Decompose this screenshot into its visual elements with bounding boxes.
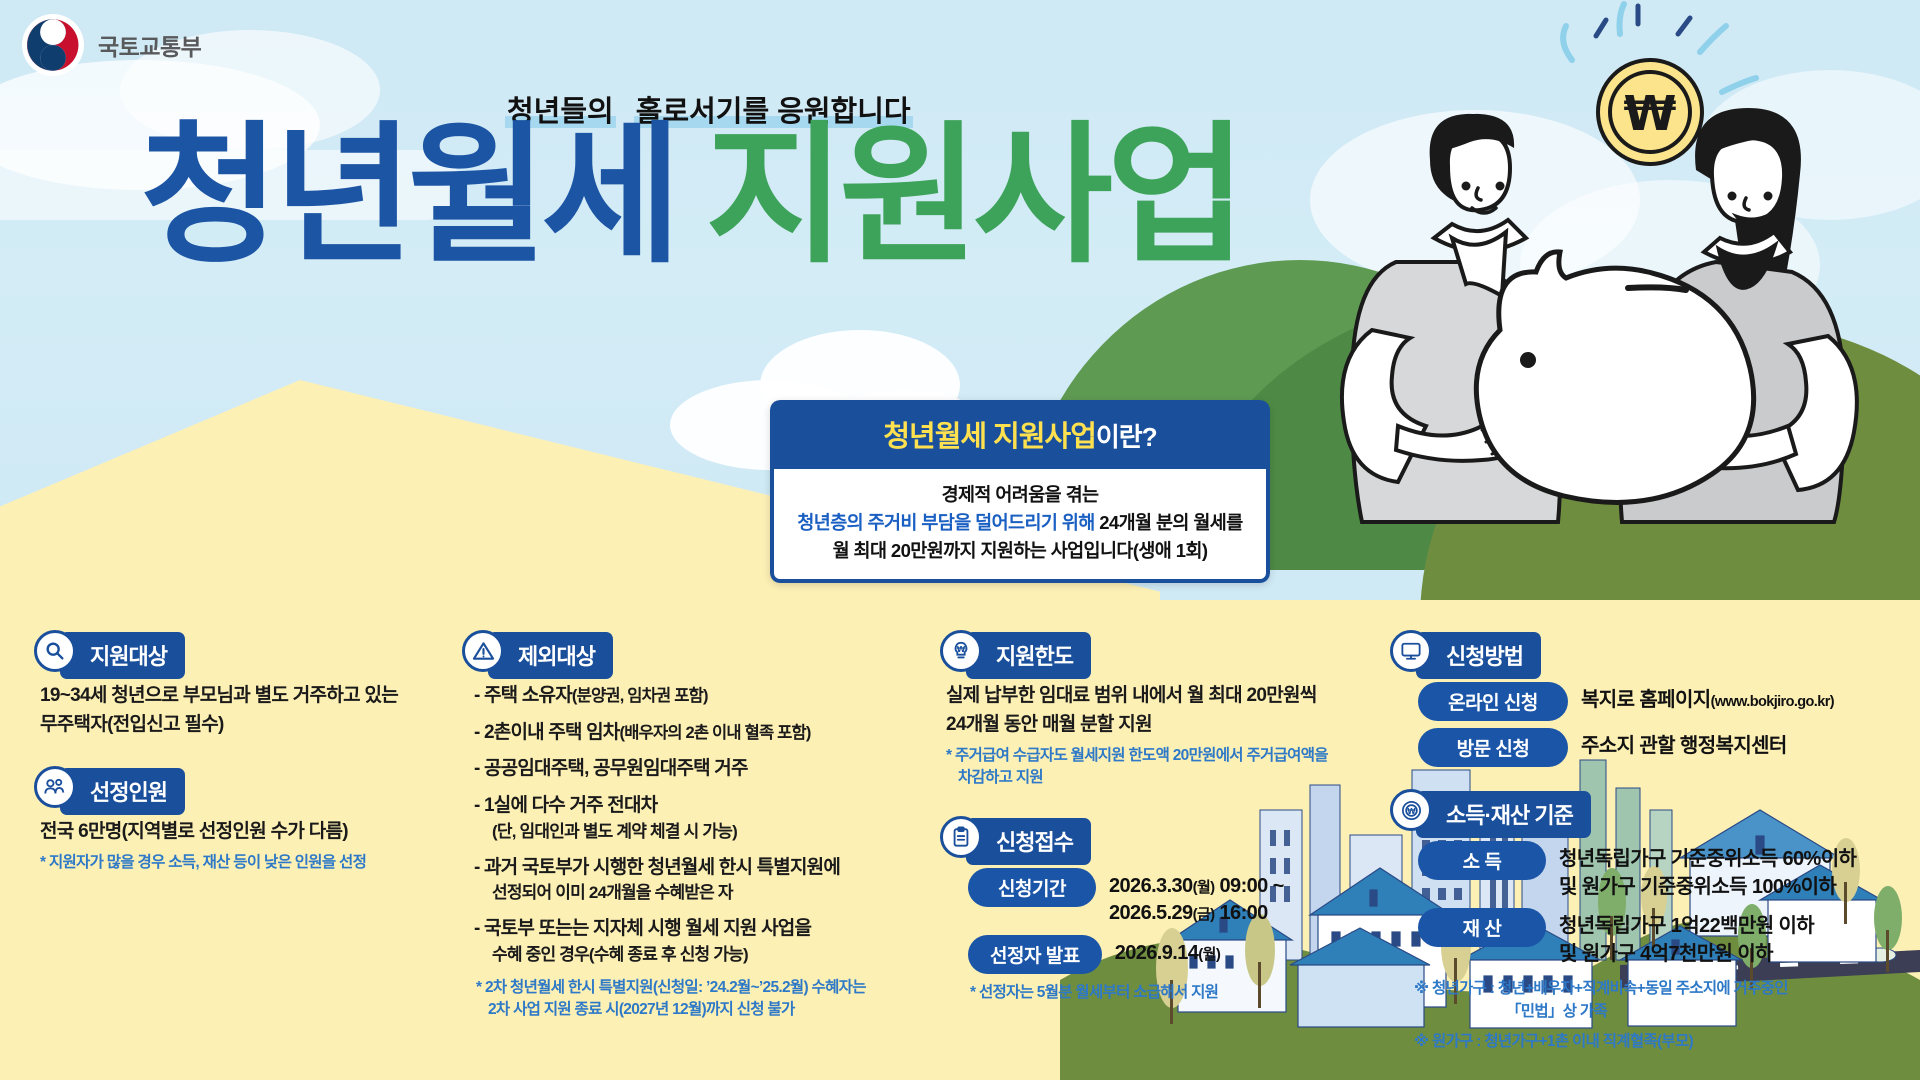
list-item: - 1실에 다수 거주 전대차(단, 임대인과 별도 계약 체결 시 가능)	[474, 792, 942, 845]
callout-body: 경제적 어려움을 겪는 청년층의 주거비 부담을 덜어드리기 위해 24개월 분…	[770, 469, 1270, 583]
note-youth-household: ※ 청년가구 : 청년+배우자+직계비속+동일 주소지에 거주중인	[1414, 980, 1788, 997]
quota-note: * 지원자가 많을 경우 소득, 재산 등이 낮은 인원을 선정	[34, 852, 454, 874]
item-small: (배우자의 2촌 이내 혈족 포함)	[620, 724, 811, 742]
section-income: ₩ 소득·재산 기준 소 득 청년독립가구 기준중위소득 60%이하 및 원가구…	[1390, 789, 1900, 1054]
section-target: 지원대상 19~34세 청년으로 부모님과 별도 거주하고 있는 무주택자(전입…	[34, 630, 454, 740]
people-icon	[34, 766, 76, 808]
poster-root: ₩	[0, 0, 1920, 1080]
item-main: - 국토부 또는는 지자체 시행 월세 지원 사업을	[474, 918, 811, 939]
won-coin-icon: ₩	[1598, 60, 1702, 164]
announcement-value: 2026.9.14(월)	[1115, 935, 1221, 968]
quota-line1: 전국 6만명(지역별로 선정인원 수가 다름)	[34, 818, 454, 847]
section-income-title: 소득·재산 기준	[1416, 791, 1591, 838]
income-row: 소 득 청년독립가구 기준중위소득 60%이하 및 원가구 기준중위소득 100…	[1390, 841, 1900, 901]
warning-icon	[462, 630, 504, 672]
method-visit-value: 주소지 관할 행정복지센터	[1581, 728, 1787, 761]
callout-line3: 월 최대 20만원까지 지원하는 사업입니다(생애 1회)	[788, 537, 1252, 565]
section-application-header: 신청접수	[940, 816, 1380, 858]
section-target-title: 지원대상	[60, 632, 185, 679]
list-item: - 2촌이내 주택 임차(배우자의 2촌 이내 혈족 포함)	[474, 719, 942, 747]
won-circle-icon: ₩	[1390, 789, 1432, 831]
target-line2: 무주택자(전입신고 필수)	[40, 711, 454, 740]
application-period-row: 신청기간 2026.3.30(월) 09:00 ~ 2026.5.29(금) 1…	[940, 868, 1380, 928]
section-quota: 선정인원 전국 6만명(지역별로 선정인원 수가 다름) * 지원자가 많을 경…	[34, 766, 454, 874]
list-item: - 공공임대주택, 공무원임대주택 거주	[474, 755, 942, 783]
item-main: - 1실에 다수 거주 전대차	[474, 795, 657, 816]
svg-text:₩: ₩	[1407, 806, 1416, 815]
excluded-note-line2: 2차 사업 지원 종료 시(2027년 12월)까지 신청 불가	[476, 999, 942, 1021]
item-main: - 2촌이내 주택 임차	[474, 722, 620, 743]
period-end: 2026.5.29(금) 16:00	[1109, 900, 1284, 928]
list-item: - 과거 국토부가 시행한 청년월세 한시 특별지원에선정되어 이미 24개월을…	[474, 854, 942, 907]
income-note-household: ※ 청년가구 : 청년+배우자+직계비속+동일 주소지에 거주중인 「민법」상 …	[1390, 978, 1900, 1023]
item-main: - 공공임대주택, 공무원임대주택 거주	[474, 758, 748, 779]
section-method-header: 신청방법	[1390, 630, 1900, 672]
item-sub: (단, 임대인과 별도 계약 체결 시 가능)	[488, 820, 942, 845]
clipboard-icon	[940, 816, 982, 858]
section-method: 신청방법 온라인 신청 복지로 홈페이지(www.bokjiro.go.kr) …	[1390, 630, 1900, 767]
method-online-row: 온라인 신청 복지로 홈페이지(www.bokjiro.go.kr)	[1390, 682, 1900, 721]
section-excluded: 제외대상 - 주택 소유자(분양권, 임차권 포함) - 2촌이내 주택 임차(…	[462, 630, 942, 1022]
svg-text:₩: ₩	[1624, 86, 1677, 142]
section-target-header: 지원대상	[34, 630, 454, 672]
item-main: - 주택 소유자	[474, 685, 572, 706]
asset-label: 재 산	[1418, 908, 1546, 947]
period-end-date: 2026.5.29	[1109, 902, 1193, 924]
method-visit-row: 방문 신청 주소지 관할 행정복지센터	[1390, 728, 1900, 767]
section-quota-header: 선정인원	[34, 766, 454, 808]
column-target-quota: 지원대상 19~34세 청년으로 부모님과 별도 거주하고 있는 무주택자(전입…	[34, 630, 454, 880]
asset-line2: 및 원가구 4억7천만원 이하	[1559, 941, 1814, 969]
period-start: 2026.3.30(월) 09:00 ~	[1109, 873, 1284, 901]
limit-note-line1: * 주거급여 수급자도 월세지원 한도액 20만원에서 주거급여액을	[946, 747, 1328, 764]
period-start-day: (월)	[1193, 879, 1215, 896]
period-start-date: 2026.3.30	[1109, 875, 1193, 897]
list-item: - 국토부 또는는 지자체 시행 월세 지원 사업을수혜 중인 경우(수혜 종료…	[474, 915, 942, 968]
title-blue: 청년월세	[140, 111, 675, 281]
announcement-day: (월)	[1198, 946, 1220, 963]
limit-line1: 실제 납부한 임대료 범위 내에서 월 최대 20만원씩	[946, 682, 1380, 711]
section-application-title: 신청접수	[966, 818, 1091, 865]
column-method-income: 신청방법 온라인 신청 복지로 홈페이지(www.bokjiro.go.kr) …	[1390, 630, 1900, 1060]
method-online-label: 온라인 신청	[1418, 682, 1568, 721]
method-online-value: 복지로 홈페이지(www.bokjiro.go.kr)	[1581, 682, 1834, 715]
column-excluded: 제외대상 - 주택 소유자(분양권, 임차권 포함) - 2촌이내 주택 임차(…	[462, 630, 942, 1028]
target-line1: 19~34세 청년으로 부모님과 별도 거주하고 있는	[40, 682, 454, 711]
asset-row: 재 산 청년독립가구 1억22백만원 이하 및 원가구 4억7천만원 이하	[1390, 908, 1900, 968]
info-columns: 지원대상 19~34세 청년으로 부모님과 별도 거주하고 있는 무주택자(전입…	[0, 630, 1920, 1080]
income-line1: 청년독립가구 기준중위소득 60%이하	[1559, 846, 1856, 874]
online-url: (www.bokjiro.go.kr)	[1711, 694, 1834, 710]
note-youth-household-cont: 「민법」상 가족	[1414, 1001, 1900, 1023]
announcement-date: 2026.9.14	[1115, 942, 1199, 964]
taegeuk-icon	[22, 14, 84, 76]
callout-line2: 청년층의 주거비 부담을 덜어드리기 위해 24개월 분의 월세를	[788, 509, 1252, 537]
people-piggybank-illustration: ₩	[1200, 0, 1920, 600]
period-end-time: 16:00	[1215, 902, 1268, 924]
announcement-row: 선정자 발표 2026.9.14(월)	[940, 935, 1380, 974]
page-title: 청년월세지원사업	[140, 120, 1241, 272]
item-sub: 선정되어 이미 24개월을 수혜받은 자	[488, 881, 942, 906]
income-label: 소 득	[1418, 841, 1546, 880]
income-line2: 및 원가구 기준중위소득 100%이하	[1559, 874, 1856, 902]
item-small: (분양권, 임차권 포함)	[572, 687, 708, 705]
callout-line2-rest: 24개월 분의 월세를	[1095, 512, 1243, 533]
application-period-label: 신청기간	[968, 868, 1096, 907]
income-note-origin: ※ 원가구 : 청년가구+1촌 이내 직계혈족(부모)	[1390, 1031, 1900, 1053]
section-limit-title: 지원한도	[966, 632, 1091, 679]
limit-body: 실제 납부한 임대료 범위 내에서 월 최대 20만원씩 24개월 동안 매월 …	[940, 682, 1380, 740]
item-sub: 수혜 중인 경우(수혜 종료 후 신청 가능)	[488, 943, 942, 968]
won-bulb-icon: ₩	[940, 630, 982, 672]
section-method-title: 신청방법	[1416, 632, 1541, 679]
callout-line2-blue: 청년층의 주거비 부담을 덜어드리기 위해	[797, 512, 1094, 533]
definition-callout: 청년월세 지원사업이란? 경제적 어려움을 겪는 청년층의 주거비 부담을 덜어…	[770, 400, 1270, 583]
excluded-list: - 주택 소유자(분양권, 임차권 포함) - 2촌이내 주택 임차(배우자의 …	[462, 682, 942, 968]
callout-head-rest: 이란?	[1096, 422, 1157, 452]
monitor-icon	[1390, 630, 1432, 672]
excluded-note: * 2차 청년월세 한시 특별지원(신청일: ’24.2월~’25.2월) 수혜…	[462, 977, 942, 1022]
section-limit: ₩ 지원한도 실제 납부한 임대료 범위 내에서 월 최대 20만원씩 24개월…	[940, 630, 1380, 790]
ministry-logo: 국토교통부	[22, 14, 201, 76]
section-excluded-header: 제외대상	[462, 630, 942, 672]
period-start-time: 09:00 ~	[1215, 875, 1284, 897]
section-excluded-title: 제외대상	[488, 632, 613, 679]
section-quota-title: 선정인원	[60, 768, 185, 815]
limit-note: * 주거급여 수급자도 월세지원 한도액 20만원에서 주거급여액을 차감하고 …	[940, 745, 1380, 790]
asset-line1: 청년독립가구 1억22백만원 이하	[1559, 913, 1814, 941]
announcement-label: 선정자 발표	[968, 935, 1102, 974]
income-value: 청년독립가구 기준중위소득 60%이하 및 원가구 기준중위소득 100%이하	[1559, 841, 1856, 901]
title-green: 지원사업	[705, 111, 1240, 281]
column-limit-application: ₩ 지원한도 실제 납부한 임대료 범위 내에서 월 최대 20만원씩 24개월…	[940, 630, 1380, 1010]
callout-header: 청년월세 지원사업이란?	[770, 400, 1270, 469]
excluded-note-line1: * 2차 청년월세 한시 특별지원(신청일: ’24.2월~’25.2월) 수혜…	[476, 979, 866, 996]
callout-head-highlight: 청년월세 지원사업	[883, 421, 1096, 453]
section-income-header: ₩ 소득·재산 기준	[1390, 789, 1900, 831]
sparkle-icon	[1596, 6, 1690, 36]
period-end-day: (금)	[1193, 906, 1215, 923]
item-main: - 과거 국토부가 시행한 청년월세 한시 특별지원에	[474, 857, 840, 878]
online-target: 복지로 홈페이지	[1581, 689, 1711, 711]
method-visit-label: 방문 신청	[1418, 728, 1568, 767]
section-target-body: 19~34세 청년으로 부모님과 별도 거주하고 있는 무주택자(전입신고 필수…	[34, 682, 454, 740]
svg-text:₩: ₩	[957, 645, 966, 654]
limit-note-line2: 차감하고 지원	[946, 767, 1380, 789]
callout-line1: 경제적 어려움을 겪는	[788, 481, 1252, 509]
list-item: - 주택 소유자(분양권, 임차권 포함)	[474, 682, 942, 710]
limit-line2: 24개월 동안 매월 분할 지원	[946, 711, 1380, 740]
magnifier-icon	[34, 630, 76, 672]
section-application: 신청접수 신청기간 2026.3.30(월) 09:00 ~ 2026.5.29…	[940, 816, 1380, 1005]
ministry-name: 국토교통부	[98, 28, 201, 62]
application-note: * 선정자는 5월분 월세부터 소급해서 지원	[940, 982, 1380, 1004]
section-limit-header: ₩ 지원한도	[940, 630, 1380, 672]
asset-value: 청년독립가구 1억22백만원 이하 및 원가구 4억7천만원 이하	[1559, 908, 1814, 968]
application-period-value: 2026.3.30(월) 09:00 ~ 2026.5.29(금) 16:00	[1109, 868, 1284, 928]
